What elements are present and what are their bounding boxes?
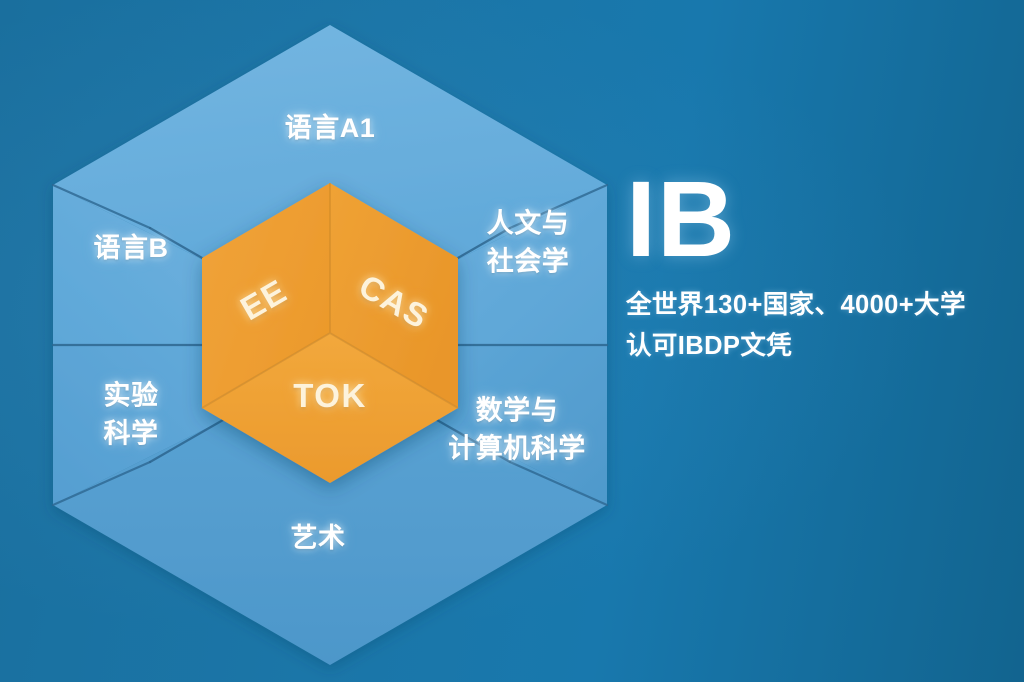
ib-curriculum-poster: 语言A1 人文与 社会学 数学与 计算机科学 艺术 实验 科学 语言B EE C…: [0, 0, 1024, 682]
brand-subtitle-line2: 认可IBDP文凭: [626, 326, 1018, 367]
brand-panel: IB 全世界130+国家、4000+大学 认可IBDP文凭: [626, 168, 1018, 367]
brand-subtitle: 全世界130+国家、4000+大学 认可IBDP文凭: [626, 285, 1018, 368]
brand-subtitle-line1: 全世界130+国家、4000+大学: [626, 285, 1018, 326]
hexagon-diagram: 语言A1 人文与 社会学 数学与 计算机科学 艺术 实验 科学 语言B EE C…: [0, 0, 660, 682]
brand-title: IB: [626, 168, 1018, 271]
hexagon-diagram-svg: [0, 0, 660, 682]
